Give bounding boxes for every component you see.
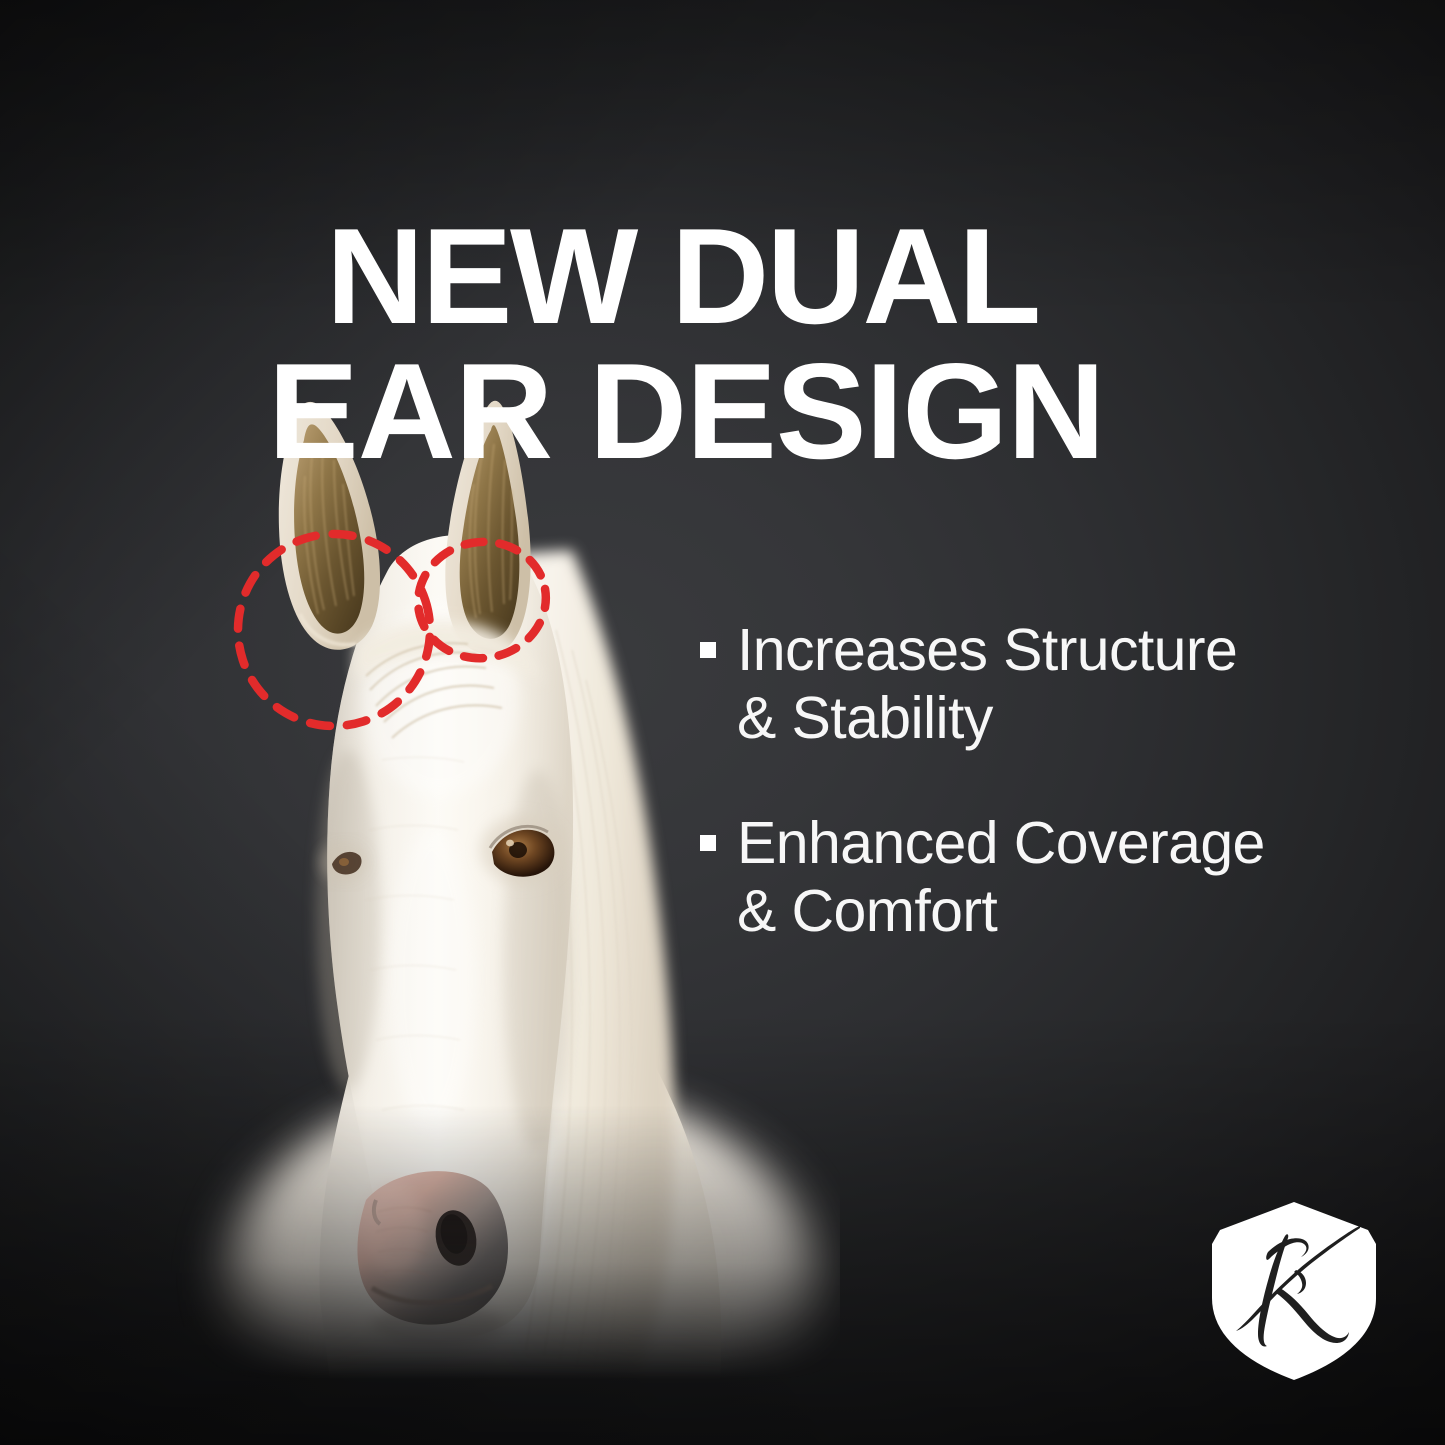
feature-line-2: & Stability	[737, 685, 993, 751]
page-title: NEW DUAL EAR DESIGN	[268, 209, 1198, 478]
shield-icon	[1212, 1202, 1376, 1380]
feature-text: Increases Structure & Stability	[737, 616, 1237, 753]
square-bullet-icon	[700, 835, 716, 851]
brand-logo	[1208, 1200, 1380, 1382]
headline-line-1: NEW DUAL	[326, 209, 1198, 344]
feature-line-1: Enhanced Coverage	[737, 810, 1265, 876]
poster-canvas: NEW DUAL EAR DESIGN Increases Structure …	[0, 0, 1445, 1445]
feature-list: Increases Structure & Stability Enhanced…	[700, 616, 1370, 1002]
square-bullet-icon	[700, 642, 716, 658]
headline-line-2: EAR DESIGN	[268, 344, 1198, 479]
list-item: Enhanced Coverage & Comfort	[700, 809, 1370, 946]
feature-line-2: & Comfort	[737, 878, 997, 944]
feature-line-1: Increases Structure	[737, 617, 1237, 683]
list-item: Increases Structure & Stability	[700, 616, 1370, 753]
feature-text: Enhanced Coverage & Comfort	[737, 809, 1265, 946]
